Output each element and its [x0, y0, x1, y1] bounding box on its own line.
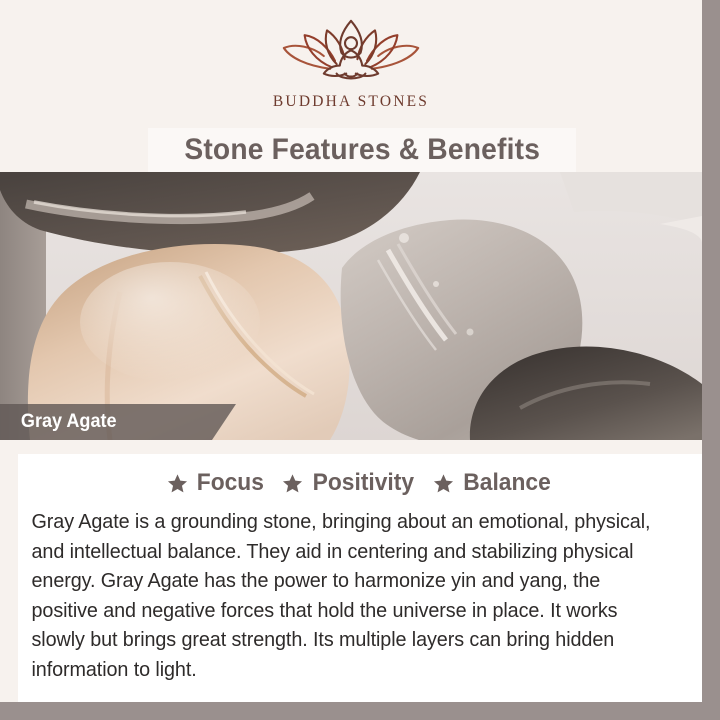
stone-description: Gray Agate is a grounding stone, bringin…: [18, 507, 678, 684]
star-icon: [282, 473, 303, 494]
photo-caption-band: Gray Agate: [0, 404, 236, 440]
star-icon: [433, 473, 454, 494]
description-panel: Focus Positivity Balance Gray Agate is a…: [18, 454, 702, 702]
brand-name: BUDDHA STONES: [273, 93, 429, 111]
benefit-item-focus: Focus: [167, 469, 266, 497]
stone-photo: Gray Agate: [0, 172, 702, 440]
lotus-meditation-figure-icon: [271, 16, 431, 88]
benefit-label: Balance: [463, 469, 550, 497]
stone-name: Gray Agate: [0, 411, 117, 433]
title-banner: Stone Features & Benefits: [148, 128, 576, 172]
benefit-item-balance: Balance: [433, 469, 553, 497]
page-title: Stone Features & Benefits: [184, 133, 540, 167]
panel-top-strip: [18, 440, 702, 454]
content-card: BUDDHA STONES Stone Features & Benefits: [0, 0, 702, 702]
benefit-keywords: Focus Positivity Balance: [18, 454, 702, 500]
benefit-label: Positivity: [313, 469, 414, 497]
infographic-page: BUDDHA STONES Stone Features & Benefits: [0, 0, 720, 720]
benefit-item-positivity: Positivity: [282, 469, 417, 497]
brand-logo: BUDDHA STONES: [0, 16, 702, 111]
star-icon: [167, 473, 188, 494]
stone-photo-image: [0, 172, 702, 440]
benefit-label: Focus: [197, 469, 264, 497]
